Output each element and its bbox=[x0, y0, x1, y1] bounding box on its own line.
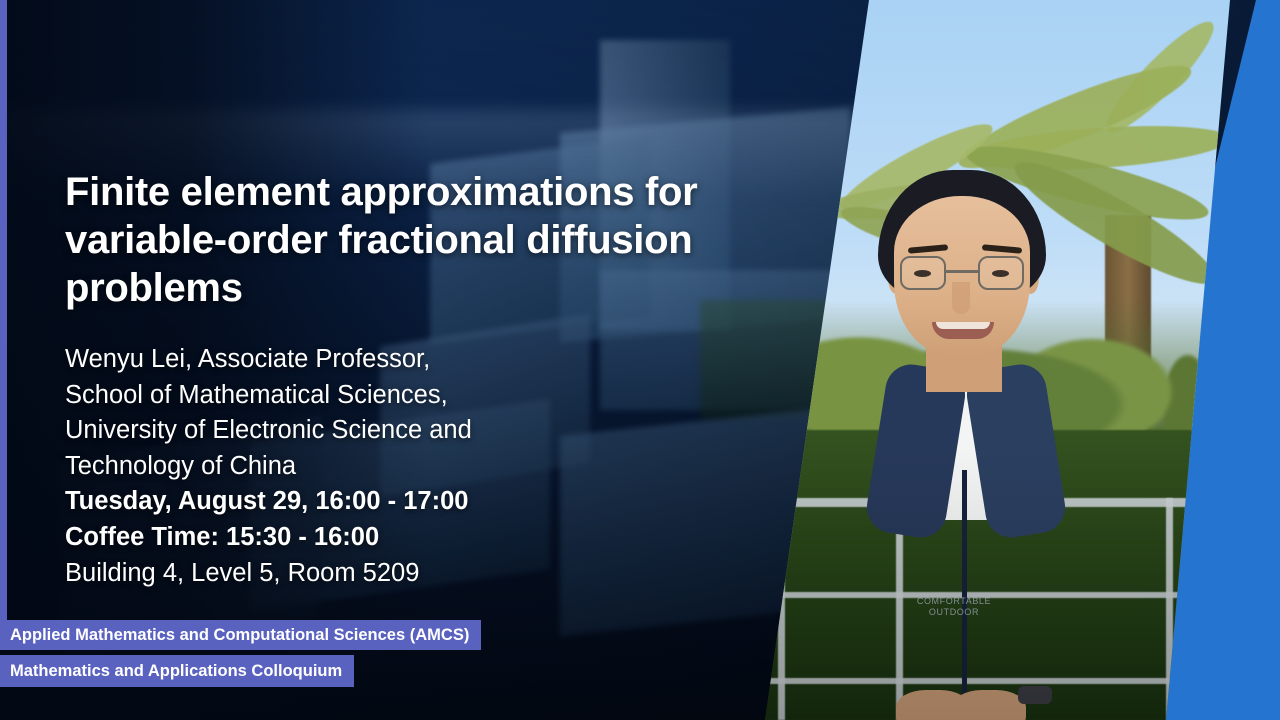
speaker-university-line-2: Technology of China bbox=[65, 449, 765, 485]
event-datetime: Tuesday, August 29, 16:00 - 17:00 bbox=[65, 484, 765, 520]
seminar-announcement-slide: COMFORTABLE OUTDOOR Finite element appro… bbox=[0, 0, 1280, 720]
series-banner: Mathematics and Applications Colloquium bbox=[0, 655, 354, 687]
program-banner: Applied Mathematics and Computational Sc… bbox=[0, 620, 481, 650]
speaker-school: School of Mathematical Sciences, bbox=[65, 378, 765, 414]
event-location: Building 4, Level 5, Room 5209 bbox=[65, 556, 765, 592]
speaker-details: Wenyu Lei, Associate Professor, School o… bbox=[65, 342, 765, 591]
text-block: Finite element approximations for variab… bbox=[65, 168, 765, 591]
left-edge-accent-strip bbox=[0, 0, 7, 620]
page-title: Finite element approximations for variab… bbox=[65, 168, 765, 312]
speaker-university-line-1: University of Electronic Science and bbox=[65, 413, 765, 449]
coffee-time: Coffee Time: 15:30 - 16:00 bbox=[65, 520, 765, 556]
speaker-name-title: Wenyu Lei, Associate Professor, bbox=[65, 342, 765, 378]
